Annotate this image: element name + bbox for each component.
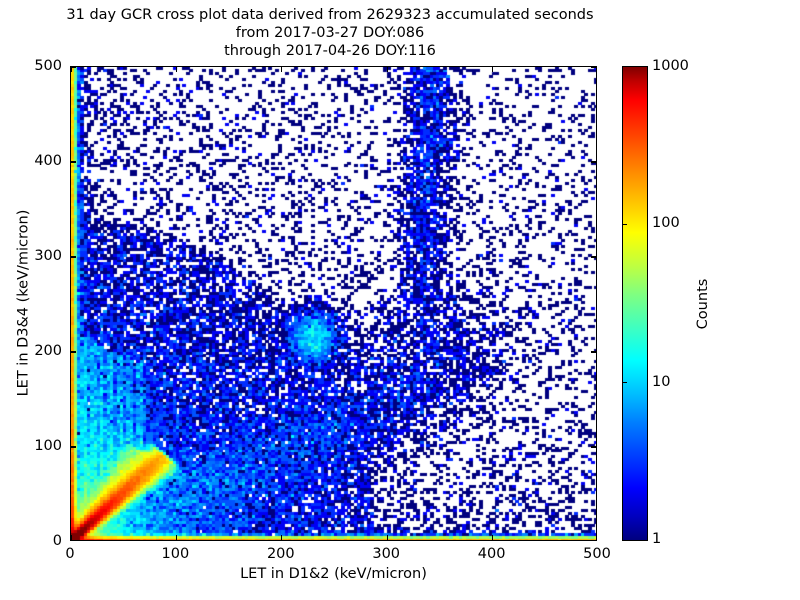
x-tick-mark: [176, 535, 177, 540]
x-tick-label: 400: [478, 546, 506, 562]
x-tick-mark: [492, 535, 493, 540]
y-tick-mark-right: [591, 256, 596, 257]
x-tick-mark: [70, 535, 71, 540]
y-tick-mark-right: [591, 351, 596, 352]
x-axis-label: LET in D1&2 (keV/micron): [70, 566, 597, 582]
y-tick-mark: [71, 446, 76, 447]
x-tick-mark-top: [70, 67, 71, 72]
y-tick-mark-right: [591, 161, 596, 162]
x-tick-label: 200: [267, 546, 295, 562]
colorbar-tick-label: 1: [652, 531, 661, 547]
plot-axes: [70, 66, 597, 541]
plot-title-line-2: from 2017-03-27 DOY:086: [0, 24, 660, 42]
x-tick-label: 500: [583, 546, 611, 562]
x-tick-mark-top: [176, 67, 177, 72]
colorbar-tick-mark: [622, 224, 627, 225]
x-tick-mark: [387, 535, 388, 540]
x-tick-label: 100: [162, 546, 190, 562]
colorbar-tick-label: 100: [652, 215, 680, 231]
figure-canvas: 31 day GCR cross plot data derived from …: [0, 0, 800, 600]
y-tick-mark: [71, 351, 76, 352]
colorbar-tick-mark: [622, 382, 627, 383]
x-tick-label: 300: [372, 546, 400, 562]
y-tick-mark: [71, 161, 76, 162]
plot-title: 31 day GCR cross plot data derived from …: [0, 6, 660, 60]
colorbar: [622, 66, 648, 541]
plot-title-line-1: 31 day GCR cross plot data derived from …: [0, 6, 660, 24]
x-tick-mark: [281, 535, 282, 540]
x-tick-label: 0: [65, 546, 74, 562]
x-tick-mark-top: [492, 67, 493, 72]
y-axis-label: LET in D3&4 (keV/micron): [16, 66, 36, 541]
y-tick-mark: [71, 256, 76, 257]
y-tick-mark: [71, 66, 76, 67]
y-tick-mark-right: [591, 446, 596, 447]
x-tick-mark-top: [387, 67, 388, 72]
colorbar-tick-label: 10: [652, 374, 670, 390]
y-tick-mark-right: [591, 66, 596, 67]
plot-title-line-3: through 2017-04-26 DOY:116: [0, 42, 660, 60]
scatter-density-plot: [71, 67, 597, 541]
colorbar-label: Counts: [695, 154, 715, 454]
colorbar-tick-label: 1000: [652, 58, 689, 74]
x-tick-mark-top: [281, 67, 282, 72]
